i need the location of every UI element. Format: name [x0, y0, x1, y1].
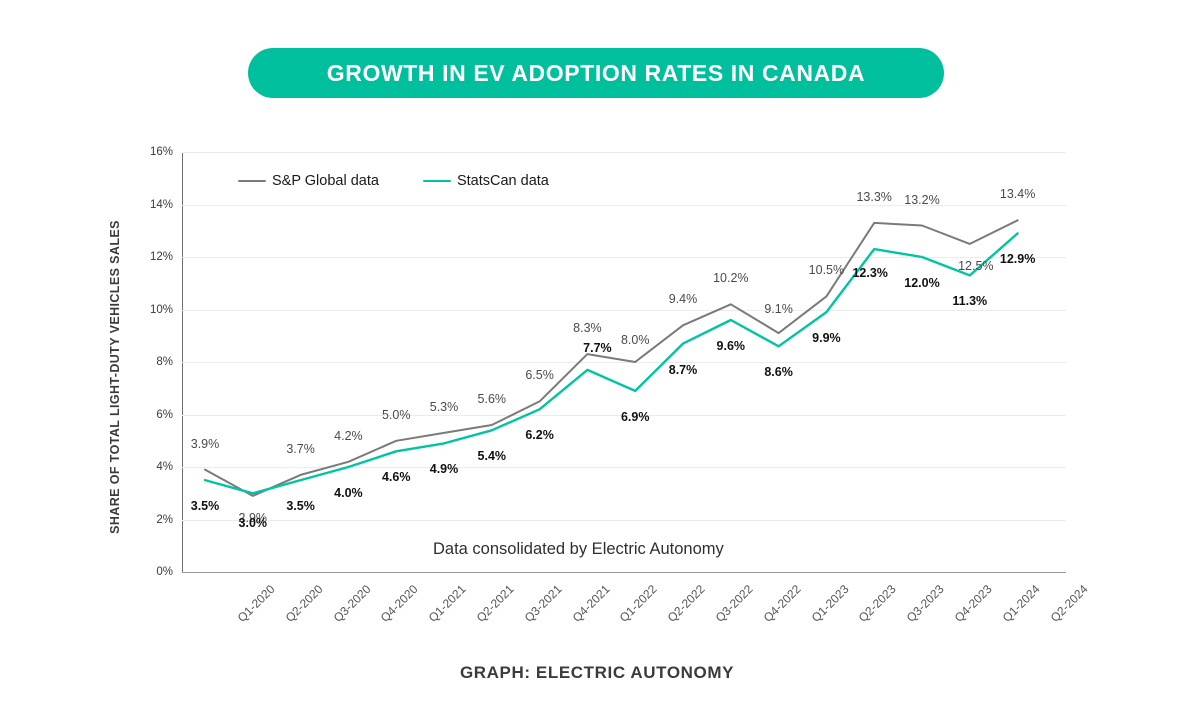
data-label-snp: 13.4% — [1000, 187, 1035, 201]
data-label-snp: 13.2% — [904, 193, 939, 207]
data-label-statscan: 3.5% — [286, 499, 315, 513]
data-label-snp: 8.3% — [573, 321, 602, 335]
legend-swatch-snp — [238, 180, 266, 182]
y-axis-title: SHARE OF TOTAL LIGHT-DUTY VEHICLES SALES — [108, 167, 122, 587]
x-axis-tick-label: Q4-2022 — [760, 582, 803, 625]
x-axis-tick-label: Q4-2021 — [569, 582, 612, 625]
data-label-snp: 10.5% — [809, 263, 844, 277]
data-label-statscan: 3.5% — [191, 499, 220, 513]
data-label-snp: 4.2% — [334, 429, 363, 443]
data-label-statscan: 12.3% — [852, 266, 887, 280]
x-axis-tick-label: Q4-2023 — [952, 582, 995, 625]
data-label-statscan: 9.9% — [812, 331, 841, 345]
chart-title-text: GROWTH IN EV ADOPTION RATES IN CANADA — [327, 60, 865, 87]
data-label-snp: 10.2% — [713, 271, 748, 285]
data-label-snp: 8.0% — [621, 333, 650, 347]
chart-legend: S&P Global data StatsCan data — [238, 173, 549, 189]
data-label-statscan: 6.9% — [621, 410, 650, 424]
data-label-snp: 3.9% — [191, 437, 220, 451]
data-label-snp: 9.4% — [669, 292, 698, 306]
x-axis-tick-label: Q2-2024 — [1047, 582, 1090, 625]
data-label-statscan: 7.7% — [583, 341, 612, 355]
data-label-snp: 12.5% — [958, 259, 993, 273]
legend-item-statscan: StatsCan data — [423, 173, 549, 189]
x-axis-tick-label: Q3-2022 — [713, 582, 756, 625]
y-axis-tick-label: 14% — [150, 199, 173, 211]
x-axis-tick-label: Q2-2020 — [282, 582, 325, 625]
data-label-statscan: 8.6% — [764, 365, 793, 379]
y-axis-tick-label: 16% — [150, 146, 173, 158]
x-axis-tick-label: Q1-2022 — [617, 582, 660, 625]
x-axis-tick-label: Q1-2020 — [235, 582, 278, 625]
data-label-snp: 5.3% — [430, 400, 459, 414]
y-axis-tick-label: 2% — [156, 514, 173, 526]
chart-page: GROWTH IN EV ADOPTION RATES IN CANADA SH… — [0, 0, 1194, 709]
y-axis-tick-label: 0% — [156, 566, 173, 578]
data-label-statscan: 3.0% — [239, 516, 268, 530]
x-axis-tick-label: Q4-2020 — [378, 582, 421, 625]
y-axis-tick-label: 6% — [156, 409, 173, 421]
data-label-statscan: 11.3% — [952, 294, 987, 308]
data-label-statscan: 4.9% — [430, 462, 459, 476]
data-label-snp: 5.0% — [382, 408, 411, 422]
data-label-statscan: 4.6% — [382, 470, 411, 484]
data-label-snp: 5.6% — [478, 392, 507, 406]
data-label-statscan: 12.0% — [904, 276, 939, 290]
data-label-statscan: 4.0% — [334, 486, 363, 500]
x-axis-tick-label: Q3-2020 — [330, 582, 373, 625]
x-axis-tick-label: Q2-2021 — [474, 582, 517, 625]
chart-footer-caption: GRAPH: ELECTRIC AUTONOMY — [0, 663, 1194, 683]
y-axis-tick-label: 8% — [156, 356, 173, 368]
legend-label-statscan: StatsCan data — [457, 173, 549, 189]
gridline — [182, 572, 1066, 573]
y-axis-tick-label: 4% — [156, 461, 173, 473]
legend-item-snp: S&P Global data — [238, 173, 379, 189]
data-label-snp: 3.7% — [286, 442, 315, 456]
chart-annotation: Data consolidated by Electric Autonomy — [433, 540, 724, 559]
data-label-statscan: 6.2% — [525, 428, 554, 442]
data-label-snp: 6.5% — [525, 368, 554, 382]
data-label-statscan: 9.6% — [717, 339, 746, 353]
x-axis-tick-label: Q2-2022 — [665, 582, 708, 625]
x-axis-tick-label: Q3-2021 — [521, 582, 564, 625]
x-axis-tick-label: Q3-2023 — [904, 582, 947, 625]
legend-label-snp: S&P Global data — [272, 173, 379, 189]
series-line-statscan — [205, 233, 1018, 493]
data-label-statscan: 5.4% — [478, 449, 507, 463]
data-label-snp: 13.3% — [856, 190, 891, 204]
x-axis-tick-label: Q1-2024 — [999, 582, 1042, 625]
data-label-statscan: 8.7% — [669, 363, 698, 377]
x-axis-tick-label: Q1-2023 — [808, 582, 851, 625]
y-axis-tick-label: 10% — [150, 304, 173, 316]
data-label-snp: 9.1% — [764, 302, 793, 316]
plot-area: 0%2%4%6%8%10%12%14%16% 3.9%2.9%3.7%4.2%5… — [182, 152, 1066, 572]
y-axis-tick-label: 12% — [150, 251, 173, 263]
chart-title-banner: GROWTH IN EV ADOPTION RATES IN CANADA — [248, 48, 944, 98]
legend-swatch-statscan — [423, 180, 451, 183]
data-label-statscan: 12.9% — [1000, 252, 1035, 266]
series-line-snp — [205, 220, 1018, 496]
x-axis-tick-label: Q1-2021 — [426, 582, 469, 625]
x-axis-tick-label: Q2-2023 — [856, 582, 899, 625]
